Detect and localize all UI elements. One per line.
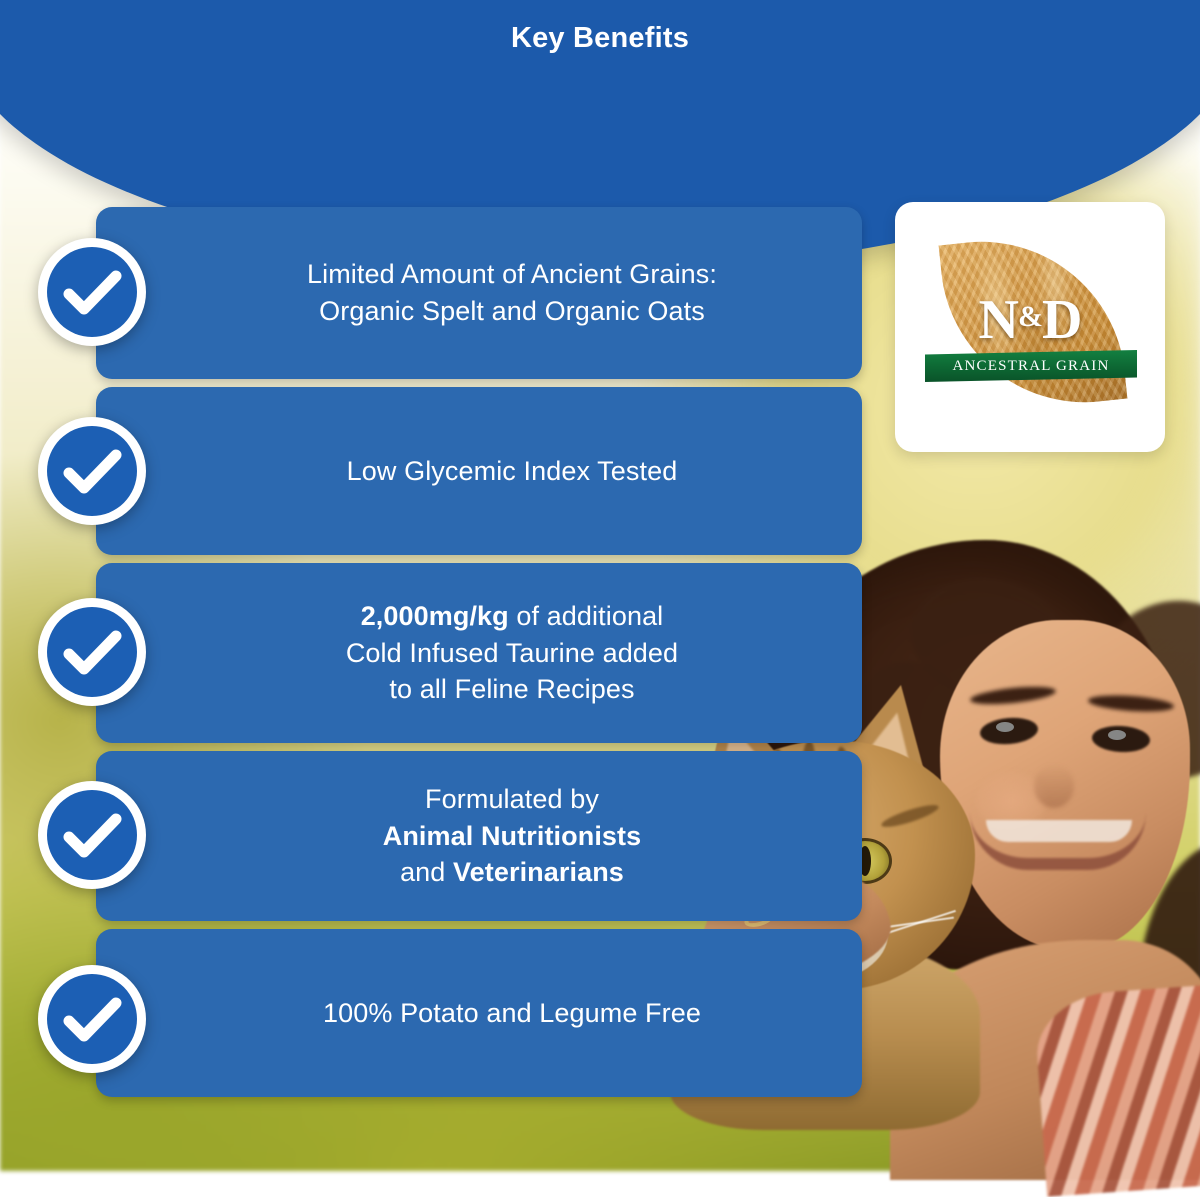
check-icon <box>38 417 146 525</box>
brand-logo-text: N&D <box>895 288 1165 352</box>
benefit-text-ancient-grains: Limited Amount of Ancient Grains: Organi… <box>197 256 761 329</box>
benefit-text-taurine: 2,000mg/kg of additional Cold Infused Ta… <box>236 598 722 708</box>
check-icon <box>38 965 146 1073</box>
check-icon <box>38 781 146 889</box>
brand-tagline: ANCESTRAL GRAIN <box>952 358 1109 375</box>
benefits-list: Limited Amount of Ancient Grains: Organi… <box>0 0 1200 1171</box>
benefit-text-low-glycemic-index: Low Glycemic Index Tested <box>237 453 722 490</box>
check-icon <box>38 598 146 706</box>
benefit-card-low-glycemic-index[interactable]: Low Glycemic Index Tested <box>96 387 862 555</box>
benefit-text-potato-legume-free: 100% Potato and Legume Free <box>213 995 745 1032</box>
brand-logo-banner: ANCESTRAL GRAIN <box>925 350 1137 382</box>
brand-logo-card[interactable]: N&D ANCESTRAL GRAIN <box>895 202 1165 452</box>
check-icon <box>38 238 146 346</box>
benefit-card-taurine[interactable]: 2,000mg/kg of additional Cold Infused Ta… <box>96 563 862 743</box>
benefit-card-potato-legume-free[interactable]: 100% Potato and Legume Free <box>96 929 862 1097</box>
benefit-card-ancient-grains[interactable]: Limited Amount of Ancient Grains: Organi… <box>96 207 862 379</box>
benefit-card-formulated-by[interactable]: Formulated by Animal Nutritionists and V… <box>96 751 862 921</box>
benefit-text-formulated-by: Formulated by Animal Nutritionists and V… <box>273 781 686 891</box>
